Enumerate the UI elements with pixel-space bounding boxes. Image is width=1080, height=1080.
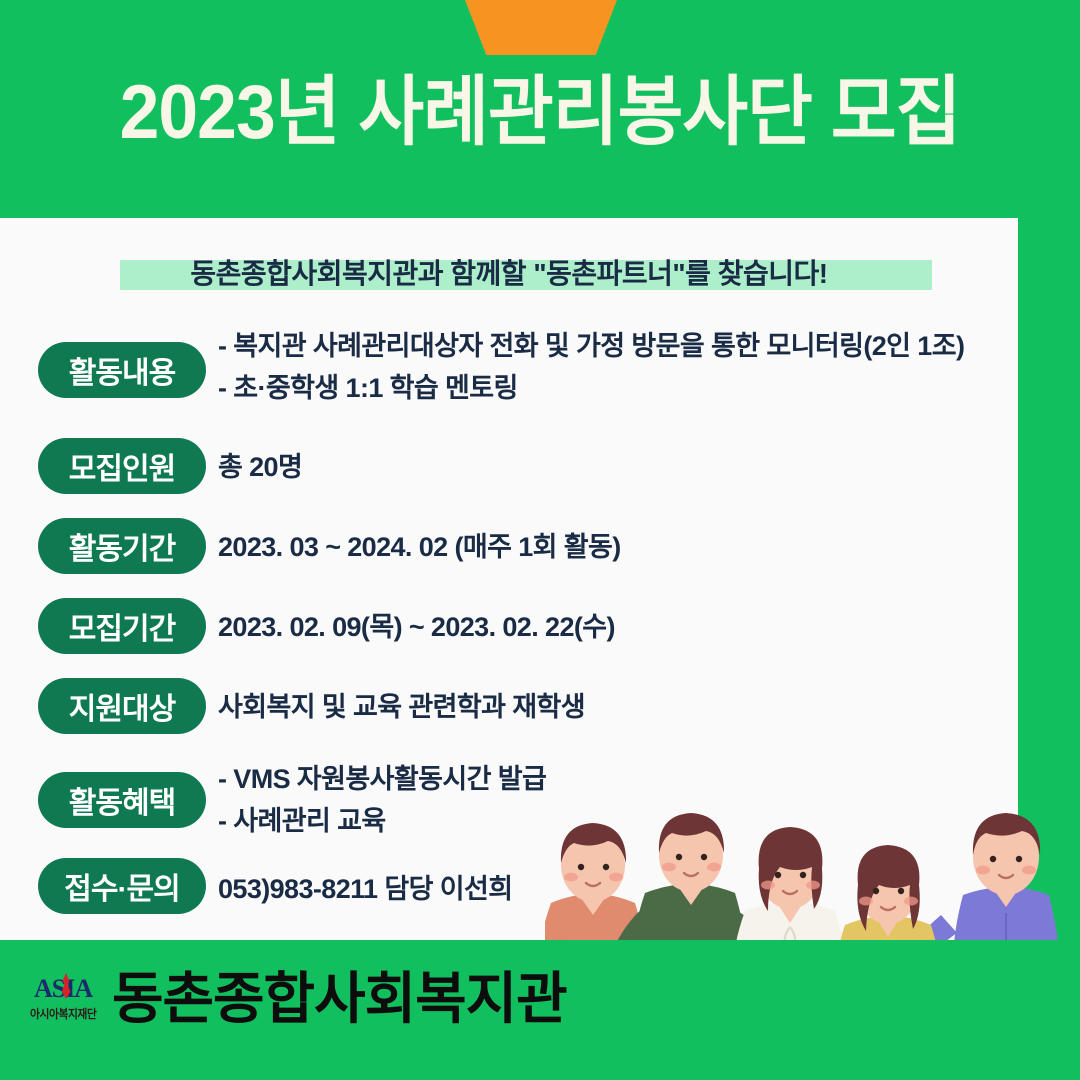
row-content: 사회복지 및 교육 관련학과 재학생 <box>218 686 585 728</box>
subtitle-text: 동촌종합사회복지관과 함께할 "동촌파트너"를 찾습니다! <box>0 248 1018 300</box>
info-row: 활동내용 - 복지관 사례관리대상자 전화 및 가정 방문을 통한 모니터링(2… <box>0 325 1018 415</box>
row-line: - VMS 자원봉사활동시간 발급 <box>218 758 546 800</box>
organization-name: 동촌종합사회복지관 <box>112 968 567 1030</box>
info-row: 지원대상 사회복지 및 교육 관련학과 재학생 <box>0 670 1018 742</box>
row-label-badge: 활동혜택 <box>38 772 206 828</box>
row-line: - 복지관 사례관리대상자 전화 및 가정 방문을 통한 모니터링(2인 1조) <box>218 325 964 367</box>
row-label-badge: 활동기간 <box>38 518 206 574</box>
row-line: - 사례관리 교육 <box>218 800 546 842</box>
poster-root: 2023년 사례관리봉사단 모집 동촌종합사회복지관과 함께할 "동촌파트너"를… <box>0 0 1080 1080</box>
page-title: 2023년 사례관리봉사단 모집 <box>32 66 1047 160</box>
row-label-badge: 접수·문의 <box>38 858 206 914</box>
info-row: 활동기간 2023. 03 ~ 2024. 02 (매주 1회 활동) <box>0 510 1018 582</box>
row-content: - 복지관 사례관리대상자 전화 및 가정 방문을 통한 모니터링(2인 1조)… <box>218 325 964 409</box>
row-content: 2023. 02. 09(목) ~ 2023. 02. 22(수) <box>218 606 615 648</box>
row-label-badge: 모집인원 <box>38 438 206 494</box>
row-line: - 초·중학생 1:1 학습 멘토링 <box>218 367 964 409</box>
row-label-badge: 지원대상 <box>38 678 206 734</box>
info-row: 모집인원 총 20명 <box>0 430 1018 502</box>
row-content: - VMS 자원봉사활동시간 발급 - 사례관리 교육 <box>218 758 546 842</box>
subtitle-block: 동촌종합사회복지관과 함께할 "동촌파트너"를 찾습니다! <box>0 248 1018 308</box>
orange-tab-icon <box>465 0 617 55</box>
row-content: 2023. 03 ~ 2024. 02 (매주 1회 활동) <box>218 526 621 568</box>
poster-header: 2023년 사례관리봉사단 모집 <box>0 0 1080 218</box>
row-line: 2023. 03 ~ 2024. 02 (매주 1회 활동) <box>218 526 621 568</box>
logo-subtext: 아시아복지재단 <box>30 1005 96 1022</box>
row-content: 총 20명 <box>218 446 302 488</box>
row-line: 2023. 02. 09(목) ~ 2023. 02. 22(수) <box>218 606 615 648</box>
row-line: 총 20명 <box>218 446 302 488</box>
row-content: 053)983-8211 담당 이선희 <box>218 868 512 910</box>
info-row: 모집기간 2023. 02. 09(목) ~ 2023. 02. 22(수) <box>0 590 1018 662</box>
row-line: 사회복지 및 교육 관련학과 재학생 <box>218 686 585 728</box>
row-label-badge: 모집기간 <box>38 598 206 654</box>
row-line: 053)983-8211 담당 이선희 <box>218 868 512 910</box>
row-label-badge: 활동내용 <box>38 342 206 398</box>
